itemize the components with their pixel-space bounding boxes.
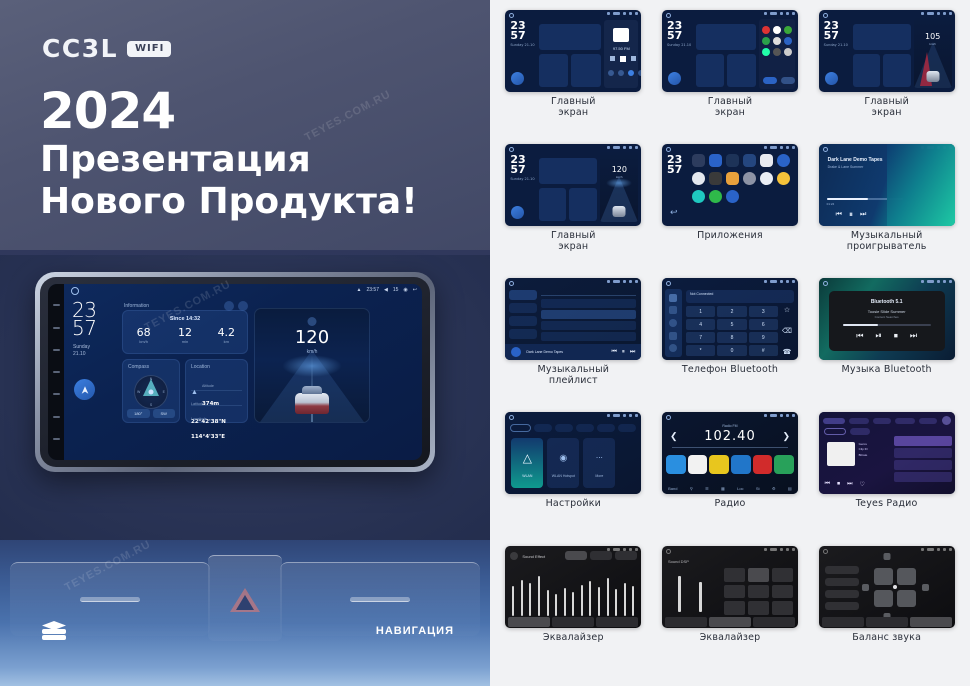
information-card [539, 24, 601, 50]
album-art [613, 28, 629, 42]
eq-icon [510, 552, 518, 560]
speaker-front-right [897, 568, 916, 585]
player-controls[interactable]: ⏮ ⏸ ⏭ [829, 210, 867, 220]
hero-headline-line2: Нового Продукта! [40, 182, 418, 222]
caption-line1: Teyes Радио [856, 498, 918, 509]
caption-line1: Главный [708, 96, 753, 107]
app-icon-bt-music[interactable] [726, 154, 739, 167]
caption-line1: Музыка Bluetooth [842, 364, 932, 375]
dock-buttons [763, 77, 795, 84]
grid-cell[interactable]: Radio FM 102.40 ❮ ❯ [655, 412, 806, 542]
clock: 2357Sunday 21.10 [510, 21, 534, 47]
thumbnail-radio[interactable]: Radio FM 102.40 ❮ ❯ [662, 412, 798, 494]
key-2: 2 [717, 306, 746, 317]
tab-dsp [709, 617, 751, 627]
app-icon-chrome[interactable] [777, 154, 790, 167]
status-bar [921, 280, 952, 283]
thumbnail-sound-balance[interactable] [819, 546, 955, 628]
navigation-arrow-icon[interactable] [74, 379, 95, 400]
list-item [541, 332, 636, 341]
preset-vocal [748, 568, 769, 582]
divider [191, 405, 242, 406]
car-3d-model [613, 206, 626, 217]
key-next-icon[interactable] [53, 327, 60, 329]
arrow-glyph [80, 385, 90, 395]
caption: Музыкальный плейлист [537, 365, 609, 387]
grid-cell[interactable]: 2357Sunday 21.10 [655, 10, 806, 140]
drive-speed: 120 [600, 165, 638, 174]
key-back-icon[interactable] [53, 393, 60, 395]
caption-line1: Эквалайзер [543, 632, 604, 643]
account-icon [942, 416, 951, 425]
app-icon-kinopoisk[interactable] [760, 172, 773, 185]
tab-fader [910, 617, 952, 627]
stat-speed-value: 68 [123, 327, 164, 339]
preset-4 [731, 455, 751, 474]
app-icon-grid [692, 154, 790, 203]
mini-player-bar[interactable]: Dark Lane Demo Tapes ⏮ ⏸ ⏭ [505, 344, 641, 360]
key-0: 0 [717, 345, 746, 356]
tab-fader [596, 617, 638, 627]
settings-card-hotspot[interactable]: ◉ WLAN Hotspot [547, 438, 579, 488]
status-bar [764, 548, 795, 551]
nav-item-search [919, 418, 937, 424]
next-icon: ⏭ [860, 211, 866, 219]
stat-distance-unit: km [206, 339, 247, 344]
clock-day: Sunday [73, 344, 90, 350]
head-unit-frame: ▲ 23:57 ◀ 15 ◉ ↩ 23 57 [40, 277, 430, 467]
status-bar [764, 280, 795, 283]
home-icon[interactable] [71, 287, 79, 295]
home-icon [823, 281, 828, 286]
side-hard-keys[interactable] [48, 284, 64, 460]
balance-presets[interactable] [825, 566, 859, 610]
grid-cell[interactable]: GenreClip IDBitrate ⏮⏹ ⏭♡ Teyes Ра [811, 412, 962, 542]
preset-all [825, 602, 859, 610]
camera-icon[interactable]: ◉ [403, 287, 407, 293]
caption-line1: Радио [714, 498, 745, 509]
home-icon [823, 13, 828, 18]
preset-bass [724, 601, 745, 615]
head-unit-screen[interactable]: ▲ 23:57 ◀ 15 ◉ ↩ 23 57 [48, 284, 422, 460]
dial-pad[interactable]: 123 456 789 *0# [686, 306, 778, 356]
compass-east: E [163, 390, 165, 394]
key-prev-icon[interactable] [53, 304, 60, 306]
grid-cell[interactable]: Bluetooth 5.1 Toosie Slide Summer Conten… [811, 278, 962, 408]
thumbnail-bluetooth-music[interactable]: Bluetooth 5.1 Toosie Slide Summer Conten… [819, 278, 955, 360]
nav-item-home [823, 418, 845, 424]
caption-line1: Главный [551, 96, 596, 107]
progress-fill [827, 198, 869, 200]
key-3: 3 [749, 306, 778, 317]
caption: Музыкальный проигрыватель [847, 231, 927, 253]
number-display: Not Connected [686, 290, 794, 303]
back-arrow-icon[interactable]: ↩ [413, 287, 417, 293]
sidebar-item-artists [509, 316, 537, 326]
thumbnail-home-media[interactable]: 2357Sunday 21.10 97.50 FM [505, 10, 641, 92]
eq-icon: ▦ [721, 486, 725, 491]
home-icon [666, 549, 671, 554]
eq-preset-label: Sound Effect [522, 554, 545, 559]
status-bar [607, 280, 638, 283]
thumbnail-home-drive-red[interactable]: 2357Sunday 21.10 105 km/h [819, 10, 955, 92]
caption: Эквалайзер [543, 633, 604, 644]
status-bar [607, 414, 638, 417]
hud-icon [308, 317, 317, 326]
preset-flat [724, 568, 745, 582]
preset-live [772, 601, 793, 615]
status-bar [764, 146, 795, 149]
thumbnail-music-player[interactable]: Dark Lane Demo Tapes Drake & Lane Summer… [819, 144, 955, 226]
caption: Главный экран [864, 97, 909, 119]
compass-card [853, 54, 880, 87]
grid-cell[interactable]: Sound DSP Эквалай [655, 546, 806, 676]
app-icon-gallery[interactable] [743, 172, 756, 185]
teyes-topbar[interactable] [823, 416, 951, 425]
tuning-scale[interactable] [672, 447, 788, 452]
settings-tabs[interactable] [510, 424, 636, 432]
sidebar-item-folders [509, 329, 537, 339]
tab-fader [753, 617, 795, 627]
grid-cell[interactable]: 2357 ↩ [655, 144, 806, 274]
key-6: 6 [749, 319, 778, 330]
information-card [539, 158, 597, 184]
preset-1 [666, 455, 686, 474]
next-icon: ⏭ [630, 349, 635, 356]
compass-card[interactable]: Compass N S W E 180° [122, 359, 180, 423]
tab-eq [822, 617, 864, 627]
clock: 2357Sunday 21.10 [824, 21, 848, 47]
preset-flat [565, 551, 587, 560]
progress-bar[interactable] [843, 324, 931, 326]
eq-tab-bar[interactable] [505, 617, 641, 627]
nav-item-genres [873, 418, 891, 424]
progress-fill [843, 324, 878, 326]
contacts-icon [669, 306, 677, 314]
loc-button: Loc [737, 486, 743, 491]
caption: Приложения [697, 231, 763, 242]
divider [191, 390, 242, 391]
balance-up-button[interactable] [883, 553, 890, 560]
key-4: 4 [686, 319, 715, 330]
hero-year: 2024 [40, 85, 175, 138]
tab-apps [597, 424, 615, 432]
home-icon [509, 415, 514, 420]
key-hash: # [749, 345, 778, 356]
app-icon-playstore[interactable] [709, 190, 722, 203]
app-icon-filemanager[interactable] [726, 172, 739, 185]
preset-rock [772, 568, 793, 582]
tab-display [555, 424, 573, 432]
stop-icon: ⏹ [837, 481, 840, 488]
tab-wlan [510, 424, 530, 432]
app-icon-grid [762, 26, 792, 56]
sidebar-item-tracks [509, 290, 537, 300]
bt-version-label: Bluetooth 5.1 [829, 299, 945, 305]
navigation-arrow-icon [511, 206, 524, 219]
layers-icon [42, 621, 66, 641]
app-icon [784, 48, 792, 56]
compass-card [696, 54, 724, 87]
caption-line2: экран [558, 241, 588, 252]
compass-heading: 180° [127, 409, 150, 418]
list-icon: ☰ [705, 486, 709, 491]
status-bar [607, 12, 638, 15]
altitude-label: Altitude [202, 384, 214, 388]
eq-tab-bar[interactable] [662, 617, 798, 627]
clock-date-value: 21.10 [73, 351, 86, 357]
location-card[interactable]: Location ▲ Altitude 374m [185, 359, 248, 423]
stop-icon: ⏹ [894, 331, 898, 341]
dialer-sidebar[interactable] [665, 289, 682, 357]
product-logo: CC3L WIFI [42, 36, 171, 61]
previous-icon: ⏮ [836, 211, 842, 219]
thumbnail-home-drive-blue[interactable]: 2357Sunday 21.10 120 km/h [505, 144, 641, 226]
preset-custom [748, 601, 769, 615]
app-icon-dvr[interactable] [692, 154, 705, 167]
app-icon-dvr-playback[interactable] [709, 172, 722, 185]
settings-card-more[interactable]: ⋯ More [583, 438, 615, 488]
caption: Главный экран [708, 97, 753, 119]
home-icon [509, 147, 514, 152]
caption: Телефон Bluetooth [682, 365, 778, 376]
balance-pad[interactable] [871, 562, 919, 612]
next-station-icon[interactable]: ❯ [782, 431, 790, 442]
location-card [569, 188, 597, 221]
eq-tab-bar[interactable] [819, 617, 955, 627]
media-title: 97.50 FM [604, 46, 638, 51]
status-bar [921, 12, 952, 15]
preset-rock [590, 551, 612, 560]
key-volume-up-icon[interactable] [53, 438, 60, 440]
track-artist: Drake & Lane Summer [828, 165, 864, 169]
caption-line1: Эквалайзер [700, 632, 761, 643]
visualizer-art [887, 144, 955, 226]
next-icon: ⏭ [910, 331, 917, 341]
tab-eq [665, 617, 707, 627]
key-9: 9 [749, 332, 778, 343]
list-item [541, 321, 636, 330]
information-card [853, 24, 911, 50]
caption-line1: Музыкальный [537, 364, 609, 375]
location-title: Location [191, 364, 210, 370]
station-logo [827, 442, 855, 466]
app-icon-maps[interactable] [777, 172, 790, 185]
grid-cell[interactable]: Баланс звука [811, 546, 962, 676]
dialer-actions[interactable]: ☆ ⌫ ☎ [780, 306, 794, 356]
clock-date: Sunday 21.10 [73, 344, 90, 358]
caption-line1: Главный [864, 96, 909, 107]
bt-controls[interactable]: ⏮⏯ ⏹⏭ [829, 331, 945, 341]
thumbnail-home-apps[interactable]: 2357Sunday 21.10 [662, 10, 798, 92]
stat-speed-unit: km/h [123, 339, 164, 344]
location-card [727, 54, 756, 87]
app-icon-calculator[interactable] [743, 154, 756, 167]
drive-speed-unit: km/h [600, 175, 638, 179]
speaker-rear-left [874, 590, 893, 607]
thumbnail-equalizer-bands[interactable]: Sound Effect [505, 546, 641, 628]
preset-rear [825, 590, 859, 598]
play-pause-icon: ⏯ [875, 331, 881, 341]
thumbnail-settings[interactable]: △ WLAN ◉ WLAN Hotspot ⋯ More [505, 412, 641, 494]
grid-cell[interactable]: Dark Lane Demo Tapes Drake & Lane Summer… [811, 144, 962, 274]
home-icon [509, 281, 514, 286]
caption-line2: экран [558, 107, 588, 118]
app-icon [784, 26, 792, 34]
screenshot-grid-panel: 2357Sunday 21.10 97.50 FM [490, 0, 970, 686]
presentation-page: CC3L WIFI 2024 Презентация Нового Продук… [0, 0, 970, 686]
thumbnail-apps[interactable]: 2357 ↩ [662, 144, 798, 226]
longitude-label: Longitude [191, 417, 207, 421]
settings-card-wlan[interactable]: △ WLAN [511, 438, 543, 488]
key-volume-down-icon[interactable] [53, 416, 60, 418]
previous-icon: ⏮ [856, 331, 863, 341]
preset-classic [772, 585, 793, 599]
location-longitude-row: Longitude 114°4'33"E [191, 407, 242, 443]
apps-icon: ▤ [788, 486, 792, 491]
keypad-icon [669, 294, 677, 302]
wifi-icon: △ [523, 451, 532, 465]
hero-footer: НАВИГАЦИЯ [0, 596, 490, 686]
dsp-sliders[interactable] [678, 572, 702, 612]
list-item [894, 472, 952, 482]
bt-track-artist: Content Searches [829, 315, 945, 319]
search-icon: ⚲ [690, 486, 693, 491]
caption-line2: проигрыватель [847, 241, 927, 252]
car-3d-model [295, 386, 329, 414]
compass-direction: SW [153, 409, 176, 418]
radio-band: Radio FM [662, 424, 798, 428]
teyes-controls[interactable]: ⏮⏹ ⏭♡ [825, 481, 865, 488]
thumbnail-equalizer-presets[interactable]: Sound DSP [662, 546, 798, 628]
key-8: 8 [717, 332, 746, 343]
grid-cell[interactable]: Sound Effect [498, 546, 649, 676]
caption: Радио [714, 499, 745, 510]
thumbnail-playlist[interactable]: Dark Lane Demo Tapes ⏮ ⏸ ⏭ [505, 278, 641, 360]
next-icon: ⏭ [847, 481, 852, 488]
grid-cell[interactable]: 2357Sunday 21.10 97.50 FM [498, 10, 649, 140]
navigation-arrow-icon [825, 72, 838, 85]
home-icon [666, 415, 671, 420]
preset-5 [753, 455, 773, 474]
tab-eq [508, 617, 550, 627]
stat-distance-value: 4.2 [206, 327, 247, 339]
status-bar [764, 414, 795, 417]
caption: Музыка Bluetooth [842, 365, 932, 376]
list-item [541, 299, 636, 308]
eq-preset-buttons[interactable] [565, 551, 637, 560]
more-icon: ⋯ [596, 454, 603, 462]
screen-content: ▲ 23:57 ◀ 15 ◉ ↩ 23 57 [64, 284, 422, 460]
navigation-arrow-icon [511, 72, 524, 85]
dsp-preset-grid[interactable] [724, 568, 793, 615]
caption-line2: экран [872, 107, 902, 118]
app-icon-bluetooth[interactable] [709, 154, 722, 167]
key-5: 5 [717, 319, 746, 330]
tab-dsp [552, 617, 594, 627]
stat-time: 12 min [164, 327, 205, 344]
app-icon-contacts[interactable] [760, 154, 773, 167]
playlist-sidebar[interactable] [509, 290, 537, 339]
drive-speed-unit: km/h [914, 42, 952, 46]
balance-right-button[interactable] [922, 584, 929, 591]
teyes-station-list[interactable] [894, 436, 952, 490]
drive-map-card: 120 km/h [600, 152, 638, 222]
radio-toolbar[interactable]: Band⚲ ☰▦ LocSt ⚙▤ [662, 484, 798, 493]
balance-center-dot [893, 585, 897, 589]
wlan-label: WLAN [511, 474, 543, 478]
app-icon [773, 26, 781, 34]
bt-music-panel: Bluetooth 5.1 Toosie Slide Summer Conten… [829, 291, 945, 351]
playlist-rows[interactable] [541, 299, 636, 341]
app-icon [773, 48, 781, 56]
balance-left-button[interactable] [862, 584, 869, 591]
information-title: Information [124, 303, 149, 309]
station-presets[interactable] [666, 455, 794, 474]
radio-frequency: 102.40 [662, 429, 798, 444]
caption: Teyes Радио [856, 499, 918, 510]
playlist-tabs[interactable] [541, 289, 636, 296]
information-card: Since 14:32 68 km/h 12 min [122, 310, 248, 354]
drive-map-card[interactable]: 120 km/h [254, 308, 370, 423]
filter-fav [850, 428, 870, 435]
grid-cell[interactable]: △ WLAN ◉ WLAN Hotspot ⋯ More Настройки [498, 412, 649, 542]
back-arrow-icon: ↩ [670, 207, 678, 218]
status-clock: 23:57 [366, 287, 379, 293]
backspace-icon: ⌫ [782, 327, 792, 335]
caption: Главный экран [551, 231, 596, 253]
teyes-filters[interactable] [824, 428, 870, 435]
head-unit-bezel: ▲ 23:57 ◀ 15 ◉ ↩ 23 57 [35, 272, 435, 472]
app-icon [773, 37, 781, 45]
more-label: More [583, 474, 615, 478]
sidebar-item-albums [509, 303, 537, 313]
preset-pop [724, 585, 745, 599]
thumbnail-bluetooth-phone[interactable]: Not Connected 123 456 789 *0# ☆ ⌫ ☎ [662, 278, 798, 360]
app-icon-radio[interactable] [726, 190, 739, 203]
preset-driver [825, 566, 859, 574]
prev-station-icon[interactable]: ❮ [670, 431, 678, 442]
equalizer-sliders[interactable] [512, 568, 634, 616]
hotspot-label: WLAN Hotspot [547, 474, 579, 478]
app-icon-music[interactable] [692, 190, 705, 203]
speaker-front-left [874, 568, 893, 585]
key-power-icon[interactable] [53, 349, 60, 351]
grid-cell[interactable]: Not Connected 123 456 789 *0# ☆ ⌫ ☎ [655, 278, 806, 408]
grid-cell[interactable]: 2357Sunday 21.10 105 km/h [811, 10, 962, 140]
clock: 2357Sunday 21.10 [510, 155, 534, 181]
app-icon-camera[interactable] [692, 172, 705, 185]
stat-speed: 68 km/h [123, 327, 164, 344]
bt-track-title: Toosie Slide Summer [829, 309, 945, 314]
information-card [696, 24, 756, 50]
compass-south: S [150, 403, 152, 407]
caption-line2: плейлист [549, 375, 598, 386]
thumbnail-teyes-radio[interactable]: GenreClip IDBitrate ⏮⏹ ⏭♡ [819, 412, 955, 494]
hero-headline-line1: Презентация [40, 140, 311, 180]
clock: 2357 [667, 155, 682, 175]
key-home-icon[interactable] [53, 371, 60, 373]
tab-sound [534, 424, 552, 432]
grid-cell[interactable]: 2357Sunday 21.10 120 km/h [498, 144, 649, 274]
settings-icon: ⚙ [772, 486, 776, 491]
hero-panel: CC3L WIFI 2024 Презентация Нового Продук… [0, 0, 490, 686]
compass-north: N [150, 377, 153, 381]
home-icon [823, 147, 828, 152]
bt-status: Not Connected [690, 292, 713, 296]
grid-cell[interactable]: Dark Lane Demo Tapes ⏮ ⏸ ⏭ Музыкальный п… [498, 278, 649, 408]
tab-about [618, 424, 636, 432]
